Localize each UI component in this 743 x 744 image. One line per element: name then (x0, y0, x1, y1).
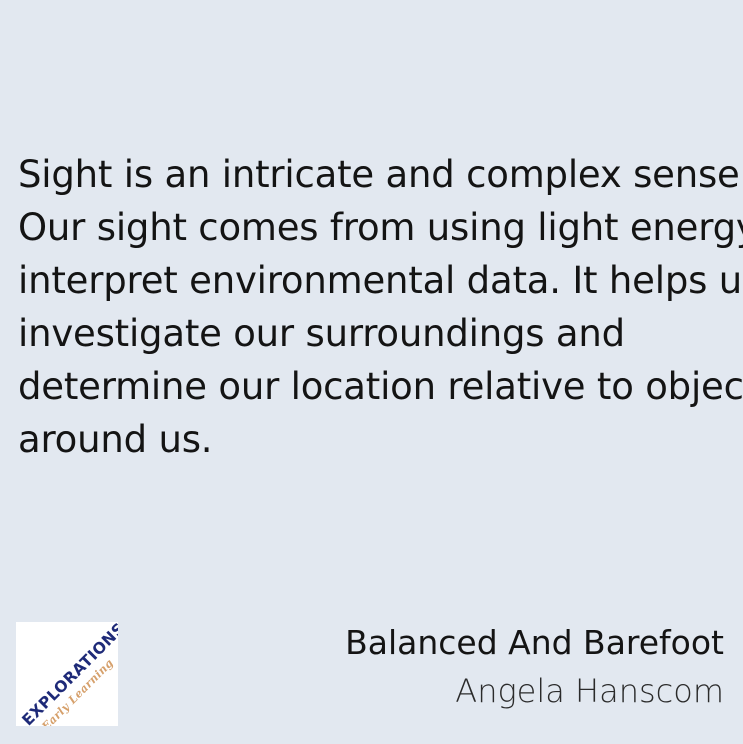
author-name: Angela Hanscom (304, 666, 724, 716)
book-title: Balanced And Barefoot (304, 620, 724, 666)
quote-line: Our sight comes from using light energy … (18, 201, 724, 254)
attribution-block: Balanced And Barefoot Angela Hanscom (304, 620, 724, 716)
quote-line: Sight is an intricate and complex sense. (18, 148, 724, 201)
quote-slide: Sight is an intricate and complex sense.… (0, 0, 743, 744)
quote-line: around us. (18, 413, 724, 466)
quote-line: interpret environmental data. It helps u… (18, 254, 724, 307)
explorations-early-learning-logo: EXPLORATIONS Early Learning (16, 622, 118, 726)
quote-line: investigate our surroundings and (18, 307, 724, 360)
quote-line: determine our location relative to objec… (18, 360, 724, 413)
logo-inner: EXPLORATIONS Early Learning (16, 622, 118, 726)
quote-text-block: Sight is an intricate and complex sense.… (18, 148, 724, 466)
